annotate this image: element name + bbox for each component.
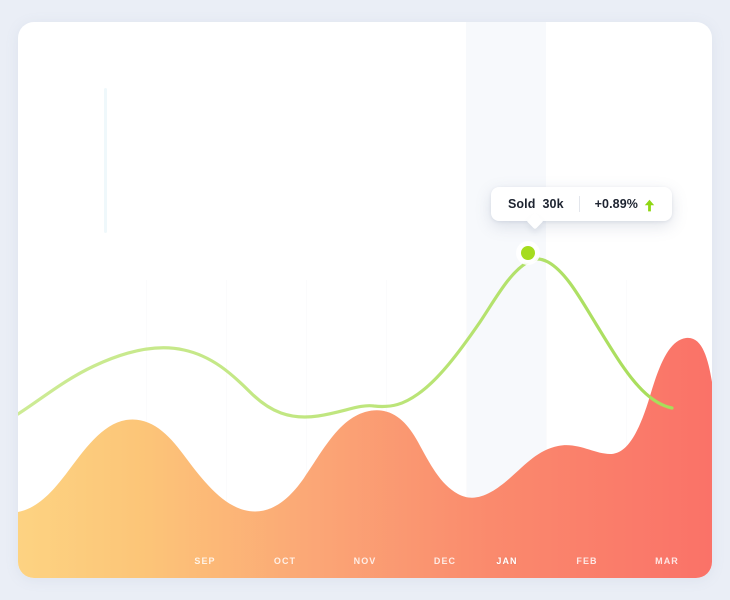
data-point-tooltip: Sold 30k +0.89% [491,187,672,221]
axis-label-nov[interactable]: NOV [354,556,377,566]
tooltip-divider [579,196,580,212]
line-series-sold [18,259,672,417]
tooltip-metric-label: Sold [508,197,535,211]
active-data-point-marker[interactable] [518,243,538,263]
tooltip-change-value: +0.89% [595,197,638,211]
axis-label-jan[interactable]: JAN [496,556,517,566]
chart-plot-area[interactable]: Sold 30k +0.89% SEP OCT NOV DEC JAN FEB … [18,22,712,578]
arrow-up-icon [644,199,655,212]
tooltip-metric-value: 30k [542,197,563,211]
axis-label-sep[interactable]: SEP [194,556,215,566]
month-axis: SEP OCT NOV DEC JAN FEB MAR [18,538,712,578]
axis-label-feb[interactable]: FEB [576,556,597,566]
area-chart-svg [18,22,712,578]
axis-label-mar[interactable]: MAR [655,556,679,566]
axis-label-dec[interactable]: DEC [434,556,456,566]
axis-label-oct[interactable]: OCT [274,556,296,566]
chart-card: Sold 30k +0.89% SEP OCT NOV DEC JAN FEB … [18,22,712,578]
